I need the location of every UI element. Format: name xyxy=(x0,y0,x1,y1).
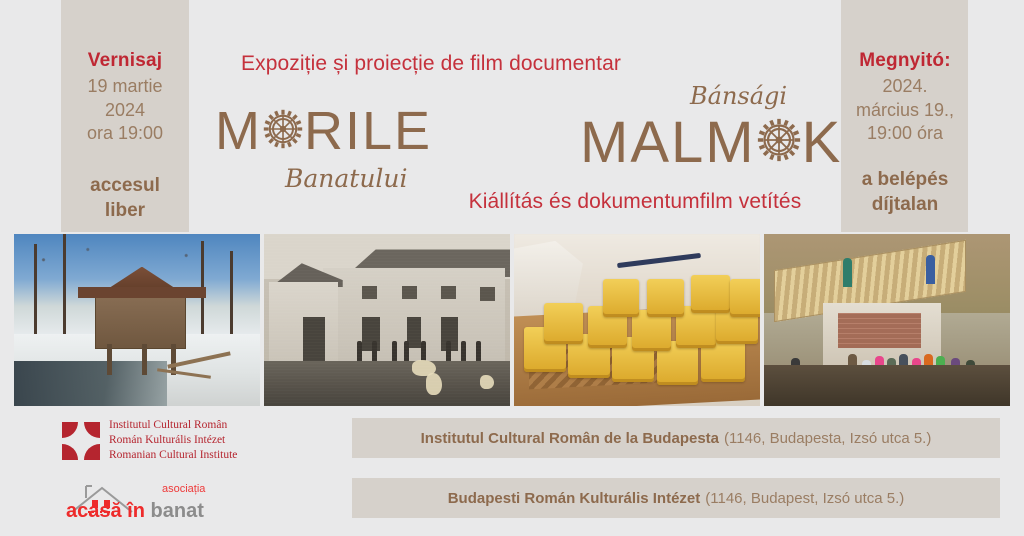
vernisaj-date: 19 martie 2024 ora 19:00 xyxy=(87,75,163,146)
icr-name-en: Romanian Cultural Institute xyxy=(109,448,237,463)
subtitle-hungarian: Kiállítás és dokumentumfilm vetítés xyxy=(440,190,830,214)
logo-ro-script: Banatului xyxy=(285,166,408,191)
logo-ro-main: M xyxy=(215,104,432,158)
roof-worker xyxy=(843,258,852,287)
photo-cornbread-squares xyxy=(514,234,760,406)
exposed-brickwork xyxy=(838,313,922,347)
mill-body xyxy=(95,291,186,349)
icr-cross-icon xyxy=(62,422,100,460)
logo-hu-main-before: MALM xyxy=(580,114,756,172)
aib-grey-text: banat xyxy=(151,500,204,522)
mill-wheel-icon xyxy=(263,104,303,158)
photo-strip xyxy=(14,234,1010,406)
venue-address-hu: (1146, Budapest, Izsó utca 5.) xyxy=(705,490,904,507)
aib-asociatia-label: asociația xyxy=(162,483,205,495)
logo-bansagi-malmok: Bánsági MALM xyxy=(580,88,880,193)
logo-hu-main: MALM xyxy=(580,114,842,172)
photo-volunteers-restoring-mill xyxy=(764,234,1010,406)
mill-wheel-icon xyxy=(757,114,801,172)
icr-logo: Institutul Cultural Român Román Kulturál… xyxy=(62,418,237,464)
photo-archival-mill-building xyxy=(264,234,510,406)
left-info-column: Vernisaj 19 martie 2024 ora 19:00 accesu… xyxy=(45,0,205,223)
mill-eaves xyxy=(78,287,206,297)
poster-canvas: Vernisaj 19 martie 2024 ora 19:00 accesu… xyxy=(0,0,1024,536)
logo-ro-main-after: RILE xyxy=(304,104,432,158)
photo-wooden-watermill-in-snow xyxy=(14,234,260,406)
aib-wordmark: acasă în banat xyxy=(66,500,204,523)
address-bar-romanian: Institutul Cultural Român de la Budapest… xyxy=(352,418,1000,458)
icr-logo-text: Institutul Cultural Român Román Kulturál… xyxy=(109,418,237,464)
subtitle-romanian: Expoziție și proiecție de film documenta… xyxy=(206,52,656,76)
logo-hu-script: Bánsági xyxy=(690,84,787,108)
address-bar-hungarian: Budapesti Román Kulturális Intézet (1146… xyxy=(352,478,1000,518)
venue-address-ro: (1146, Budapesta, Izsó utca 5.) xyxy=(724,430,931,447)
logo-hu-main-after: K xyxy=(802,114,843,172)
venue-name-ro: Institutul Cultural Român de la Budapest… xyxy=(421,430,719,447)
venue-name-hu: Budapesti Román Kulturális Intézet xyxy=(448,490,701,507)
earth-mound xyxy=(764,365,1010,406)
megnyito-heading: Megnyitó: xyxy=(859,50,951,72)
logo-ro-main-before: M xyxy=(215,104,262,158)
icr-name-ro: Institutul Cultural Român xyxy=(109,418,237,433)
logo-morile-banatului: M xyxy=(215,104,430,209)
admission-free-ro: accesul liber xyxy=(90,174,160,223)
aib-red-text: acasă în xyxy=(66,500,145,522)
acasa-in-banat-logo: asociația acasă în banat xyxy=(62,480,242,528)
roof-worker xyxy=(926,255,935,284)
vernisaj-heading: Vernisaj xyxy=(88,50,162,72)
icr-name-hu: Román Kulturális Intézet xyxy=(109,433,237,448)
film-grain xyxy=(264,234,510,406)
